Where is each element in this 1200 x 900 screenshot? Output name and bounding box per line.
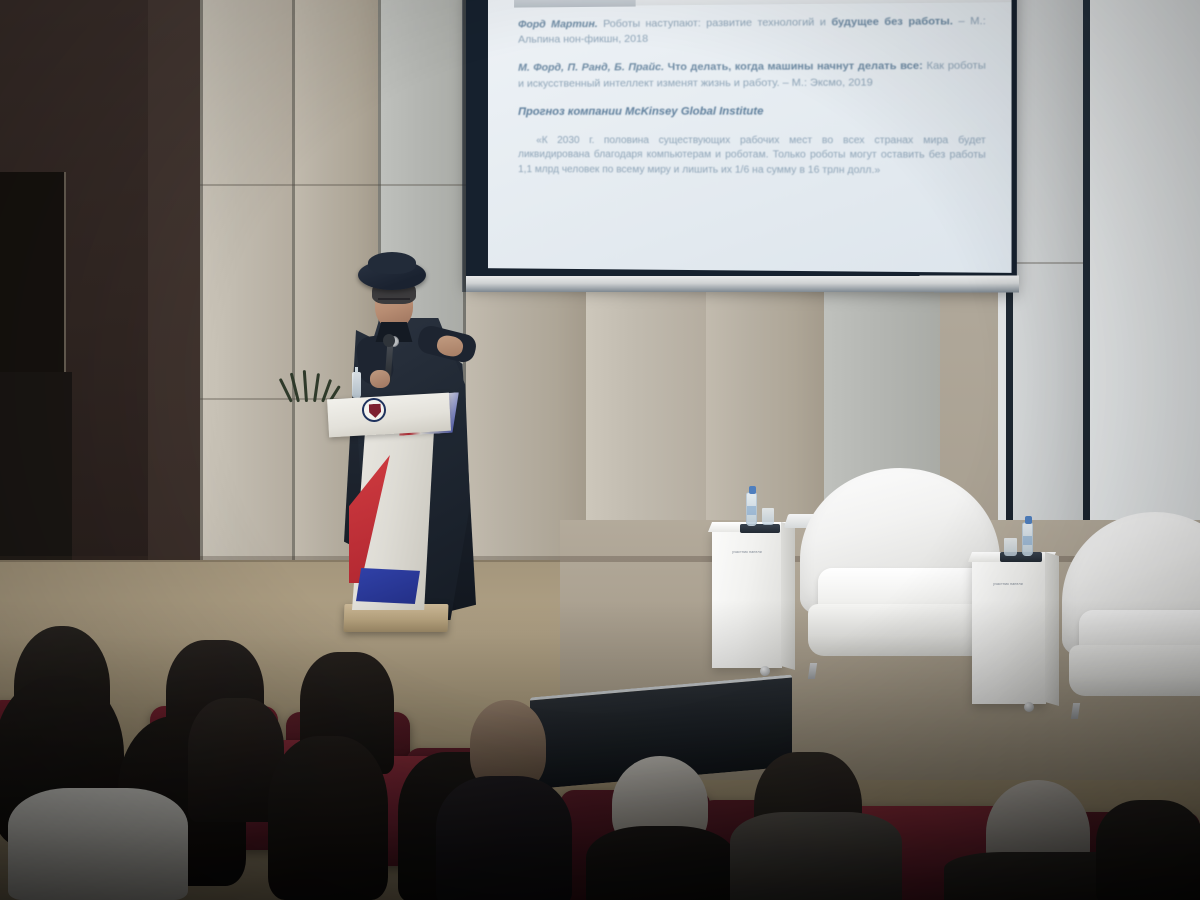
podium-blue-panel (356, 568, 420, 604)
audience-person-white-shirt (8, 788, 188, 900)
audience-person (1096, 800, 1200, 900)
name-card-left: участник панели (716, 550, 778, 555)
slide-section-heading: Прогноз компании McKinsey Global Institu… (518, 104, 986, 121)
reference-title-2: делать все: (858, 60, 923, 73)
white-tub-chair-left (800, 468, 1000, 668)
projection-screen: Форд Мартин. Роботы наступают: развитие … (466, 0, 1017, 292)
recessed-wall-panel (0, 172, 66, 372)
wall-panel (200, 0, 292, 600)
podium-lectern-top (327, 393, 451, 438)
reference-title-2: будущее без работы. (831, 15, 952, 28)
name-card-right: участник панели (977, 582, 1039, 587)
reference-title: Роботы наступают: развитие технологий и (603, 16, 826, 30)
bottle-label (747, 506, 756, 515)
reference-author: Форд Мартин. (518, 18, 598, 31)
panel-groove (1083, 0, 1090, 544)
water-bottle-podium (352, 372, 361, 398)
doctoral-cap-crown (368, 252, 416, 274)
table-caster (760, 666, 770, 676)
bottle-cap (1025, 516, 1032, 524)
screen-bottom-rail (466, 276, 1019, 293)
bottle-label (1023, 536, 1032, 545)
wall-panel-right (1013, 0, 1083, 540)
white-tub-chair-right (1062, 512, 1200, 708)
drinking-glass-left (762, 508, 774, 525)
projected-slide: Форд Мартин. Роботы наступают: развитие … (488, 0, 1012, 273)
decorative-plant (288, 368, 336, 402)
table-tray-left (740, 524, 780, 533)
dark-wood-wall-column-narrow (148, 0, 200, 610)
drinking-glass-right (1004, 538, 1017, 556)
reference-title: Что делать, когда машины начнут (668, 60, 855, 73)
panel-seam (1013, 262, 1083, 264)
speaker-glasses (378, 298, 410, 305)
slide-reference-1: Форд Мартин. Роботы наступают: развитие … (518, 14, 986, 48)
panel-seam (200, 184, 466, 186)
audience-person (436, 776, 572, 900)
lecture-hall-photograph: Форд Мартин. Роботы наступают: развитие … (0, 0, 1200, 900)
slide-quote: «К 2030 г. половина существующих рабочих… (518, 134, 986, 179)
table-caster (1024, 702, 1034, 712)
side-table-right: участник панели (972, 558, 1046, 704)
slide-reference-2: М. Форд, П. Ранд, Б. Прайс. Что делать, … (518, 59, 986, 92)
chair-front-panel (808, 604, 992, 656)
audience-person (586, 826, 736, 900)
panel-groove (292, 0, 295, 600)
slide-content: Форд Мартин. Роботы наступают: развитие … (488, 0, 1012, 273)
speaker-left-hand (370, 370, 390, 388)
reference-author: М. Форд, П. Ранд, Б. Прайс. (518, 61, 664, 74)
panel-groove (200, 0, 203, 600)
chair-front-panel (1069, 645, 1200, 696)
audience-person (268, 736, 388, 900)
water-bottle-right (1022, 522, 1033, 556)
audience-person-suit (730, 812, 902, 900)
wall-panel-right (1090, 0, 1200, 548)
table-side-face (1045, 552, 1059, 706)
side-table-left: участник панели (712, 528, 782, 668)
bottle-cap (749, 486, 756, 494)
microphone-head (383, 334, 395, 347)
water-bottle-left (746, 492, 757, 526)
table-side-face (781, 522, 795, 670)
